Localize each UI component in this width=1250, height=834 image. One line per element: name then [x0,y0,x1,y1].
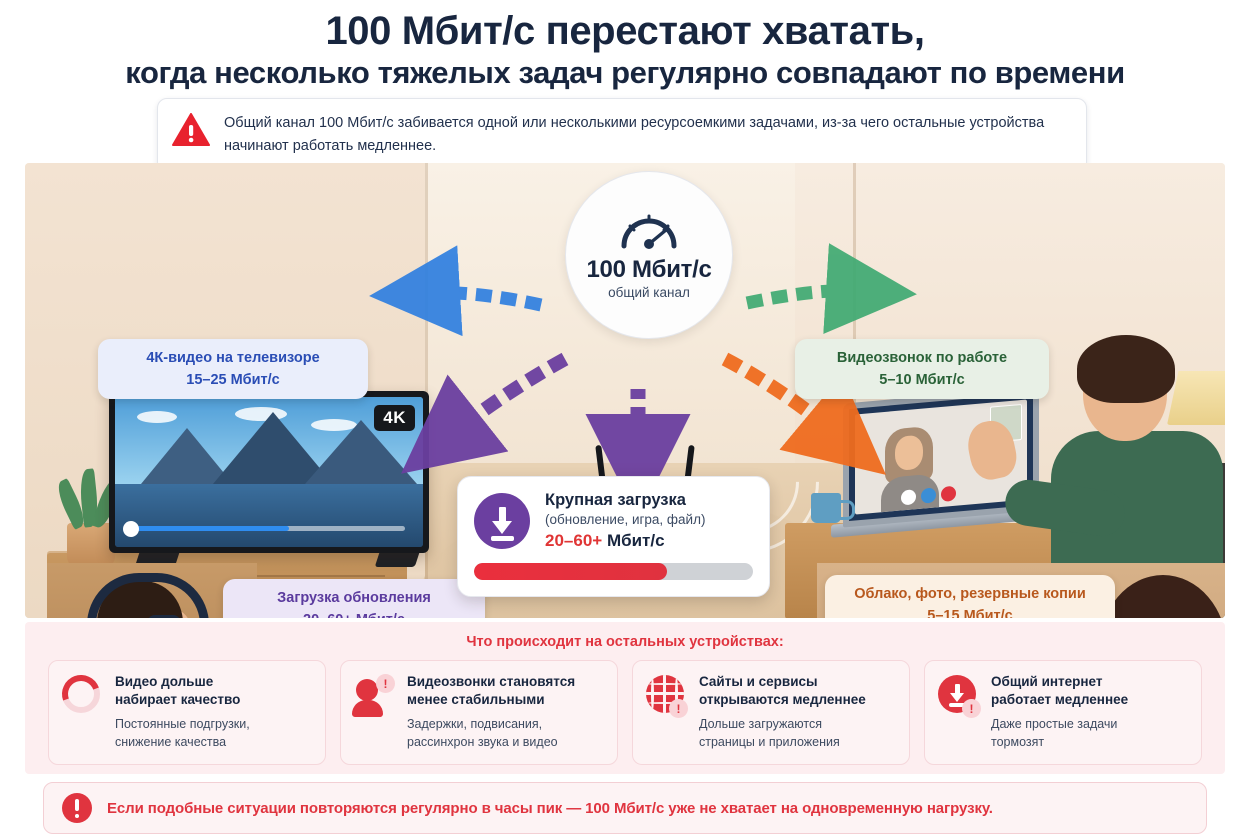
person-on-call [1043,335,1225,585]
headphone-earcup [147,615,181,618]
card-body-line1: Дольше загружаются [699,716,866,734]
page-header: 100 Мбит/с перестают хватать, когда неск… [0,0,1250,91]
label-cloud-speed: 5–15 Мбит/с [841,606,1099,618]
card-heading-line1: Видео дольше [115,673,250,691]
tv-screen: 4K [115,397,423,547]
tv-leg [375,553,420,567]
plant-pot-left [67,523,115,567]
label-videocall-title: Видеозвонок по работе [811,348,1033,368]
label-cloud-title: Облако, фото, резервные копии [841,584,1099,604]
download-circle-icon [474,493,530,549]
card-heading-line2: открываются медленнее [699,691,866,709]
label-videocall: Видеозвонок по работе 5–10 Мбит/с [795,339,1049,399]
consequences-card-list: Видео дольше набирает качество Постоянны… [25,650,1225,765]
page-title-line2: когда несколько тяжелых задач регулярно … [20,56,1230,91]
label-tv-4k: 4К-видео на телевизоре 15–25 Мбит/с [98,339,368,399]
shared-channel-hub: 100 Мбит/с общий канал [565,171,733,339]
card-heading-line2: работает медленнее [991,691,1128,709]
speedometer-icon [618,210,680,250]
buffering-ring-icon [62,675,104,719]
coffee-mug [811,493,841,523]
infographic-page: 100 Мбит/с перестают хватать, когда неск… [0,0,1250,833]
download-card-progress-fill [474,563,667,580]
tv-playback-knob[interactable] [123,521,139,537]
card-body-line2: страницы и приложения [699,734,866,752]
download-card-speed: 20–60+ Мбит/с [545,531,705,551]
download-card-subtitle: (обновление, игра, файл) [545,512,705,527]
television: 4K [109,391,429,553]
download-card-speed-value: 20–60+ [545,531,602,550]
download-alert-icon: ! [938,675,980,719]
label-update-download: Загрузка обновления 20–60+ Мбит/с [223,579,485,618]
label-videocall-speed: 5–10 Мбит/с [811,370,1033,390]
card-heading-line1: Общий интернет [991,673,1128,691]
top-alert-text: Общий канал 100 Мбит/с забивается одной … [224,111,1070,159]
card-body-line1: Постоянные подгрузки, [115,716,250,734]
download-card-title: Крупная загрузка [545,491,705,510]
person-hair [1077,335,1175,403]
consequences-title: Что происходит на остальных устройствах: [25,622,1225,650]
label-tv-title: 4К-видео на телевизоре [114,348,352,368]
tv-playback-bar[interactable] [129,526,405,531]
consequence-card-internet: ! Общий интернет работает медленнее Даже… [924,660,1202,765]
card-body-line2: рассинхрон звука и видео [407,734,575,752]
card-heading-line2: менее стабильными [407,691,575,709]
tv-4k-badge: 4K [374,405,415,431]
label-tv-speed: 15–25 Мбит/с [114,370,352,390]
tv-cloud [137,411,177,423]
card-heading-line1: Сайты и сервисы [699,673,866,691]
exclamation-circle-icon [62,793,92,823]
page-title-line1: 100 Мбит/с перестают хватать, [20,10,1230,52]
consequence-card-video: Видео дольше набирает качество Постоянны… [48,660,326,765]
globe-alert-icon: ! [646,675,688,719]
download-card-speed-unit: Мбит/с [607,531,665,550]
tv-lake [115,484,423,547]
top-alert-banner: Общий канал 100 Мбит/с забивается одной … [157,98,1087,172]
label-update-title: Загрузка обновления [239,588,469,608]
coffee-mug-handle [839,500,855,520]
tv-playback-fill [129,526,289,531]
card-body-line1: Задержки, подвисания, [407,716,575,734]
hub-speed-caption: общий канал [608,285,690,300]
warning-triangle-icon [172,113,210,147]
card-body-line1: Даже простые задачи [991,716,1128,734]
large-download-card: Крупная загрузка (обновление, игра, файл… [457,476,770,597]
download-card-progress-bar [474,563,753,580]
consequence-card-videocall: ! Видеозвонки становятся менее стабильны… [340,660,618,765]
consequence-card-websites: ! Сайты и сервисы открываются медленнее … [632,660,910,765]
bottom-alert-banner: Если подобные ситуации повторяются регул… [43,782,1207,834]
call-end-button[interactable] [941,486,956,502]
label-cloud-backup: Облако, фото, резервные копии 5–15 Мбит/… [825,575,1115,618]
hub-speed-value: 100 Мбит/с [586,256,711,284]
card-body-line2: тормозят [991,734,1128,752]
bottom-alert-text: Если подобные ситуации повторяются регул… [107,800,993,817]
consequences-section: Что происходит на остальных устройствах:… [25,622,1225,774]
card-heading-line2: набирает качество [115,691,250,709]
card-body-line2: снижение качества [115,734,250,752]
person-hair [1099,575,1225,618]
person-alert-icon: ! [354,675,396,719]
label-update-speed: 20–60+ Мбит/с [239,610,469,618]
card-heading-line1: Видеозвонки становятся [407,673,575,691]
